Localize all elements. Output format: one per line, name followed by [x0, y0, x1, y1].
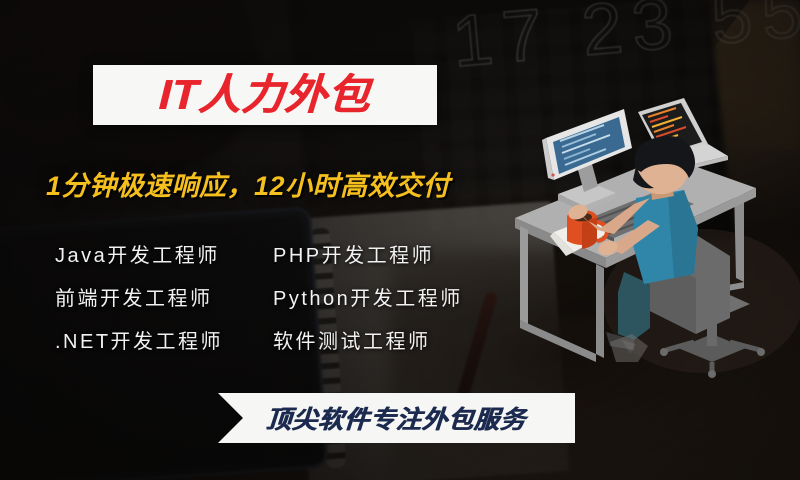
service-row: .NET开发工程师 软件测试工程师: [55, 318, 525, 361]
page-title: IT人力外包: [158, 74, 372, 116]
service-item: 前端开发工程师: [55, 282, 273, 311]
service-item: 软件测试工程师: [273, 325, 523, 354]
title-banner: IT人力外包: [93, 65, 437, 125]
service-item: PHP开发工程师: [273, 239, 523, 268]
subtitle: 1分钟极速响应，12小时高效交付: [46, 164, 516, 203]
ribbon-shape: 顶尖软件专注外包服务: [218, 393, 575, 443]
bottom-ribbon: 顶尖软件专注外包服务: [218, 393, 575, 443]
developer-illustration: [498, 96, 800, 386]
service-item: .NET开发工程师: [55, 325, 273, 354]
service-row: 前端开发工程师 Python开发工程师: [55, 275, 525, 318]
ribbon-slogan: 顶尖软件专注外包服务: [265, 400, 528, 436]
poster-canvas: 17 23 55: [0, 0, 800, 480]
desk-leg-front-right: [596, 264, 604, 358]
services-list: Java开发工程师 PHP开发工程师 前端开发工程师 Python开发工程师 .…: [55, 232, 525, 361]
service-row: Java开发工程师 PHP开发工程师: [55, 232, 525, 275]
service-item: Java开发工程师: [55, 239, 273, 268]
service-item: Python开发工程师: [273, 282, 523, 311]
